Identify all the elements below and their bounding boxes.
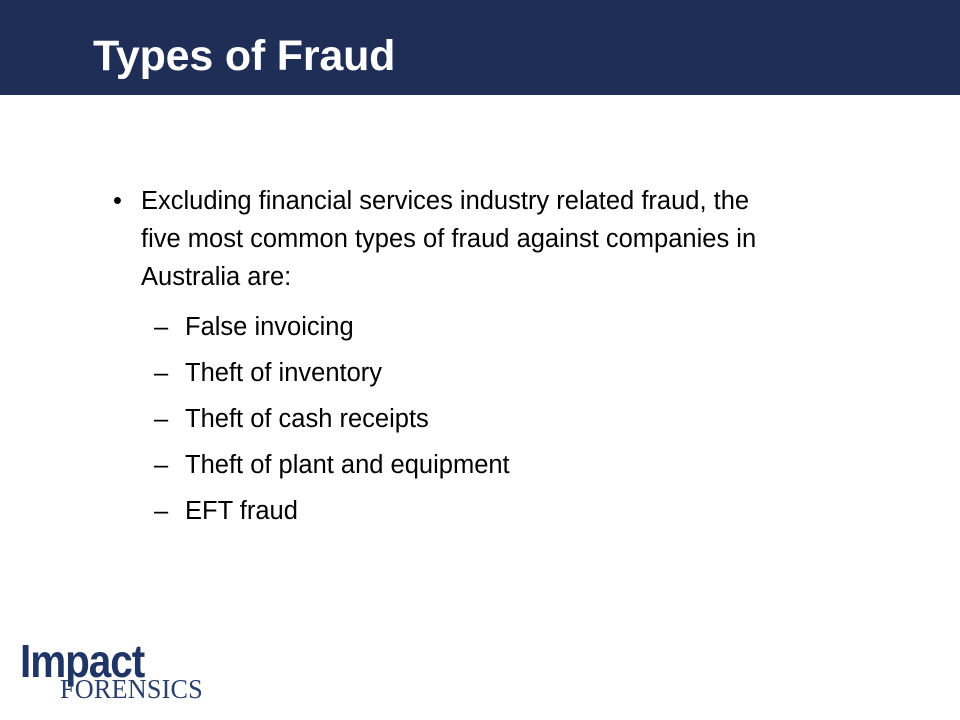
bullet-dash-icon: –: [154, 350, 168, 396]
list-item-label: EFT fraud: [185, 497, 298, 525]
list-item: – False invoicing: [0, 304, 960, 350]
logo-secondary-text: FORENSICS: [60, 676, 203, 703]
bullet-dash-icon: –: [154, 304, 168, 350]
list-item: – EFT fraud: [0, 488, 960, 534]
slide: Types of Fraud • Excluding financial ser…: [0, 0, 960, 720]
list-item: – Theft of cash receipts: [0, 396, 960, 442]
bullet-dash-icon: –: [154, 442, 168, 488]
list-item-label: Excluding financial services industry re…: [141, 182, 770, 296]
bullet-dash-icon: –: [154, 396, 168, 442]
list-item: – Theft of plant and equipment: [0, 442, 960, 488]
list-item-label: False invoicing: [185, 313, 354, 341]
list-item-label: Theft of plant and equipment: [185, 451, 510, 479]
list-item: – Theft of inventory: [0, 350, 960, 396]
page-title: Types of Fraud: [93, 30, 395, 82]
list-item: • Excluding financial services industry …: [0, 182, 960, 296]
sub-bullet-list: – False invoicing – Theft of inventory –…: [0, 304, 960, 534]
title-band: Types of Fraud: [0, 0, 960, 95]
bullet-dot-icon: •: [113, 182, 122, 220]
slide-content: • Excluding financial services industry …: [0, 182, 960, 534]
list-item-label: Theft of inventory: [185, 359, 382, 387]
bullet-dash-icon: –: [154, 488, 168, 534]
list-item-label: Theft of cash receipts: [185, 405, 429, 433]
logo: Impact FORENSICS: [18, 638, 218, 708]
